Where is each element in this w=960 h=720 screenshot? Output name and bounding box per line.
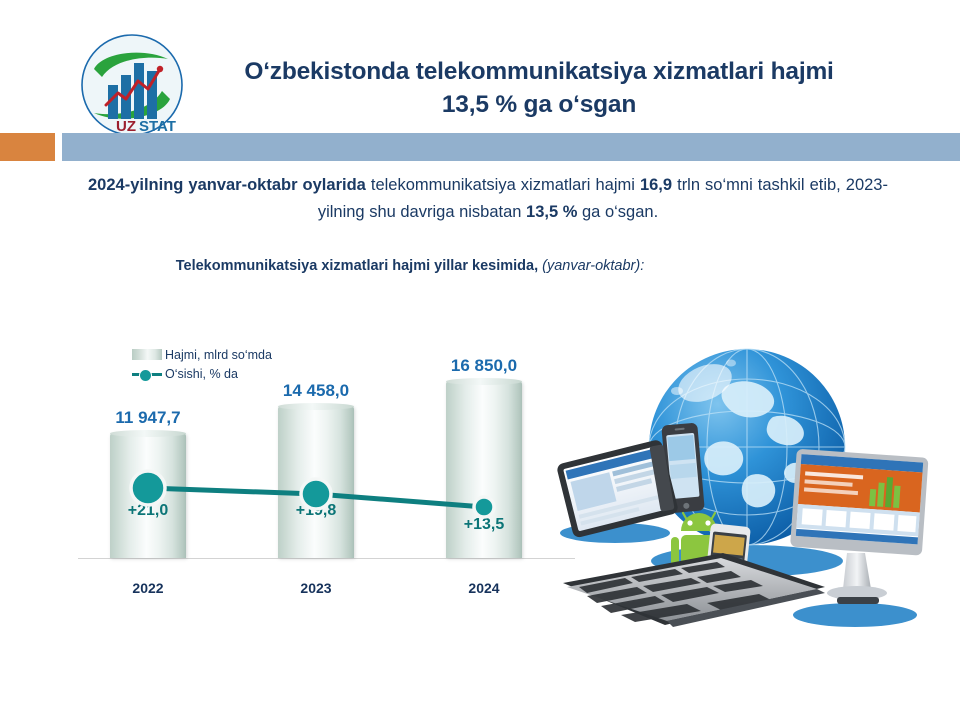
- growth-label-2023: +19,8: [256, 502, 376, 520]
- intro-text-6: ga o‘sgan.: [577, 203, 658, 221]
- page-title-line1: O‘zbekistonda telekommunikatsiya xizmatl…: [244, 58, 833, 85]
- bar-value-2023: 14 458,0: [246, 381, 386, 401]
- tablet-icon: [556, 439, 679, 543]
- intro-period: 2024-yilning yanvar-oktabr oylarida: [88, 176, 366, 194]
- chart-plot-area: 11 947,7 +21,0 2022 14 458,0 +19,8 2023 …: [70, 335, 580, 563]
- bar-top-ellipse-2024: [446, 378, 522, 385]
- uzstat-logo: UZ STAT: [80, 33, 184, 137]
- intro-paragraph: 2024-yilning yanvar-oktabr oylarida tele…: [88, 172, 888, 225]
- bar-2022[interactable]: [110, 433, 186, 558]
- desktop-monitor-icon: [790, 449, 929, 627]
- bar-line-chart: Hajmi, mlrd so‘mda O‘sishi, % da 11 947,…: [70, 335, 580, 600]
- bar-top-ellipse-2022: [110, 430, 186, 437]
- blue-accent-band: [62, 133, 960, 161]
- growth-label-2022: +21,0: [88, 502, 208, 520]
- bar-top-ellipse-2023: [278, 403, 354, 410]
- x-axis-label-2023: 2023: [256, 580, 376, 596]
- page-header: UZ STAT O‘zbekistonda telekommunikatsiya…: [0, 0, 960, 136]
- intro-volume-value: 16,9: [640, 176, 672, 194]
- chart-baseline: [78, 558, 575, 559]
- orange-accent-band: [0, 133, 55, 161]
- intro-growth-value: 13,5 %: [526, 203, 577, 221]
- chart-subtitle-bold: Telekommunikatsiya xizmatlari hajmi yill…: [176, 258, 538, 274]
- x-axis-label-2022: 2022: [88, 580, 208, 596]
- chart-subtitle-italic: (yanvar-oktabr):: [538, 258, 644, 274]
- bar-value-2024: 16 850,0: [414, 356, 554, 376]
- x-axis-label-2024: 2024: [424, 580, 544, 596]
- page-title: O‘zbekistonda telekommunikatsiya xizmatl…: [186, 56, 892, 121]
- bar-2023[interactable]: [278, 406, 354, 558]
- telecom-devices-illustration: [555, 325, 955, 660]
- growth-label-2024: +13,5: [424, 516, 544, 534]
- page-title-line2: 13,5 % ga o‘sgan: [442, 91, 636, 118]
- intro-text-2: telekommunikatsiya xizmatlari hajmi: [366, 176, 640, 194]
- bar-value-2022: 11 947,7: [78, 408, 218, 428]
- chart-subtitle: Telekommunikatsiya xizmatlari hajmi yill…: [60, 258, 760, 274]
